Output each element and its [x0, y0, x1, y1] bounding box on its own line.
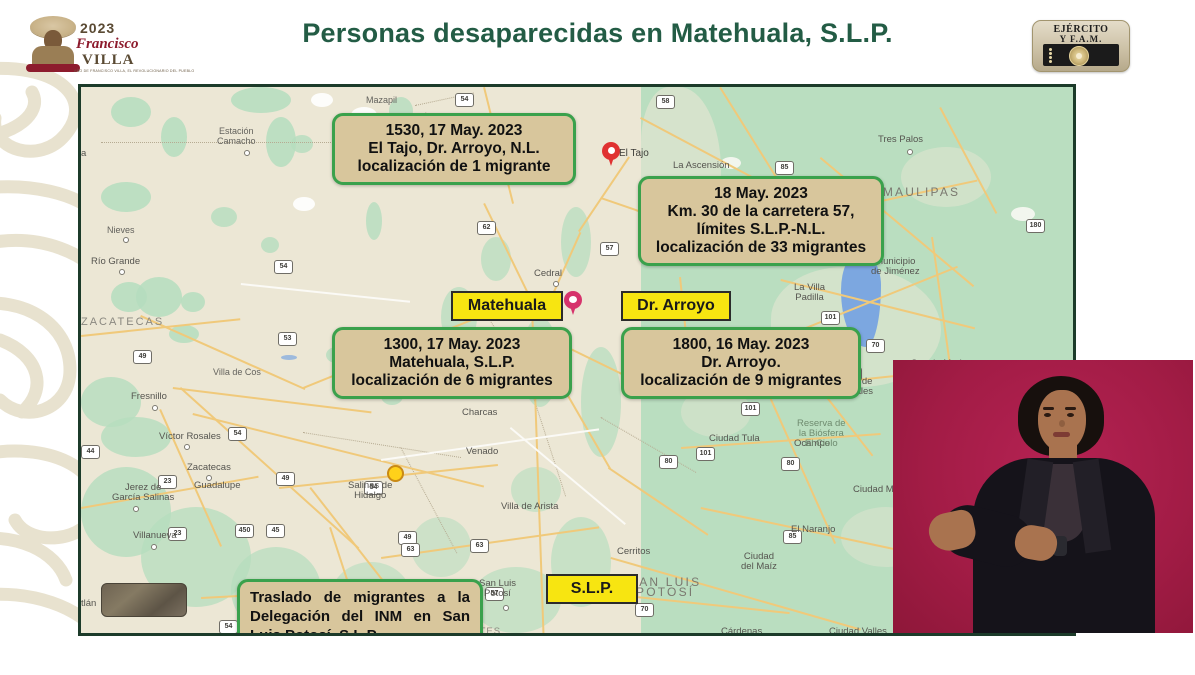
villa-torso-icon [32, 46, 74, 66]
map-label: Cárdenas [721, 627, 762, 633]
map-label: Jerez deGarcía Salinas [112, 483, 174, 503]
highway-shield: 53 [278, 332, 297, 346]
header: 2023 Francisco VILLA AÑO DE FRANCISCO VI… [0, 0, 1195, 84]
interpreter-eye [1067, 413, 1074, 417]
callout-line: 18 May. 2023 [651, 185, 871, 203]
map-city-dot [907, 149, 913, 155]
interpreter-mouth [1053, 432, 1070, 437]
interpreter-brow [1043, 407, 1054, 410]
vegetation-blob [111, 97, 151, 127]
callout-line: límites S.L.P.-N.L. [651, 221, 871, 239]
highway-shield: 63 [470, 539, 489, 553]
chip-dr-arroyo[interactable]: Dr. Arroyo [621, 291, 731, 321]
map-label: Villa de Arista [501, 502, 558, 512]
map-label: Reserva dela BiósferaEl Cielo [797, 419, 846, 449]
highway-shield: 54 [274, 260, 293, 274]
interpreter-nose [1059, 420, 1065, 427]
map-label: Ciudad Valles [829, 627, 887, 633]
vegetation-blob [161, 117, 187, 157]
highway-shield: 45 [266, 524, 285, 538]
callout-line: Km. 30 de la carretera 57, [651, 203, 871, 221]
interpreter-brow [1065, 407, 1076, 410]
vegetation-blob [291, 135, 313, 153]
map-state-label: ZACATECAS [81, 317, 164, 327]
vegetation-blob [261, 237, 279, 253]
chip-matehuala[interactable]: Matehuala [451, 291, 563, 321]
pin-tip [569, 303, 577, 315]
callout-line: Dr. Arroyo. [634, 354, 848, 372]
map-label: Villanueva [133, 531, 177, 541]
map-label: Mazapil [366, 95, 397, 105]
highway-shield: 49 [133, 350, 152, 364]
map-label: a [81, 149, 86, 159]
map-label: Zacatecas [187, 463, 231, 473]
highway-shield: 54 [455, 93, 474, 107]
callout-line: Matehuala, S.L.P. [345, 354, 559, 372]
logo-name-last: VILLA [82, 52, 135, 69]
highway-shield: 85 [775, 161, 794, 175]
map-label: tlán [81, 599, 96, 609]
vegetation-blob [481, 237, 511, 281]
map-photo-thumbnail[interactable] [101, 583, 187, 617]
chip-slp[interactable]: S.L.P. [546, 574, 638, 604]
callout-line: localización de 33 migrantes [651, 239, 871, 257]
map-city-dot [184, 444, 190, 450]
highway-shield: 80 [659, 455, 678, 469]
map-label: Cedral [534, 269, 562, 279]
highway-shield: 49 [276, 472, 295, 486]
highway-shield: 54 [228, 427, 247, 441]
callout-line: localización de 1 migrante [345, 158, 563, 176]
map-label: Fresnillo [131, 392, 167, 402]
footer-spacer [0, 636, 1195, 675]
map-city-dot [119, 269, 125, 275]
highway-shield: 63 [401, 543, 420, 557]
map-label: Venado [466, 447, 498, 457]
highway-shield: 70 [635, 603, 654, 617]
salinas-dot-marker[interactable] [387, 465, 404, 482]
emblem-line-2: Y F.A.M. [1033, 34, 1129, 44]
highway-shield: 57 [600, 242, 619, 256]
map-city-dot [503, 605, 509, 611]
map-label: EstaciónCamacho [217, 126, 256, 146]
highway-shield: 180 [1026, 219, 1045, 233]
map-label: El Naranjo [791, 525, 835, 535]
sign-language-interpreter-inset[interactable] [893, 360, 1193, 633]
callout-line: localización de 9 migrantes [634, 372, 848, 390]
map-label: Guadalupe [194, 481, 240, 491]
callout-line: El Tajo, Dr. Arroyo, N.L. [345, 140, 563, 158]
callout-line: localización de 6 migrantes [345, 372, 559, 390]
callout-traslado-inm[interactable]: Traslado de migrantes a la Delegación de… [237, 579, 483, 633]
map-label: Víctor Rosales [159, 432, 221, 442]
map-label: Cerritos [617, 547, 650, 557]
vegetation-blob [101, 182, 151, 212]
map-city-dot [244, 150, 250, 156]
map-label: Ciudaddel Maíz [741, 552, 777, 572]
pin-tip [607, 154, 615, 166]
highway-shield: 58 [656, 95, 675, 109]
map-city-dot [123, 237, 129, 243]
vegetation-blob [181, 292, 205, 312]
map-city-dot [151, 544, 157, 550]
callout-matehuala[interactable]: 1300, 17 May. 2023 Matehuala, S.L.P. loc… [332, 327, 572, 399]
logo-subtitle: AÑO DE FRANCISCO VILLA, EL REVOLUCIONARI… [74, 69, 194, 73]
callout-km30-carretera-57[interactable]: 18 May. 2023 Km. 30 de la carretera 57, … [638, 176, 884, 266]
map-label: Villa de Cos [213, 367, 261, 377]
el-tajo-marker-label: El Tajo [619, 149, 649, 159]
map-city-dot [553, 281, 559, 287]
map-label: Nieves [107, 225, 135, 235]
ejercito-fam-emblem: EJÉRCITO Y F.A.M. [1032, 20, 1130, 72]
highway-shield: 54 [219, 620, 238, 633]
highway-shield: 44 [81, 445, 100, 459]
map-label: La VillaPadilla [794, 283, 825, 303]
emblem-seal-icon [1069, 46, 1089, 66]
map-label: Río Grande [91, 257, 140, 267]
map-label: Charcas [462, 408, 497, 418]
salt-flat [293, 197, 315, 211]
vegetation-blob [136, 277, 182, 317]
callout-dr-arroyo[interactable]: 1800, 16 May. 2023 Dr. Arroyo. localizac… [621, 327, 861, 399]
map-state-label: SAN LUISPOTOSÍ [629, 577, 701, 597]
vegetation-blob [366, 202, 382, 240]
screen: 2023 Francisco VILLA AÑO DE FRANCISCO VI… [0, 0, 1195, 675]
logo-ribbon [26, 64, 80, 72]
map-label: Ciudad Tula [709, 434, 760, 444]
highway-shield: 80 [781, 457, 800, 471]
map-label: La Ascensión [673, 161, 730, 171]
matehuala-pin[interactable] [564, 291, 582, 316]
emblem-plate [1043, 44, 1119, 66]
highway-shield: 70 [866, 339, 885, 353]
callout-el-tajo[interactable]: 1530, 17 May. 2023 El Tajo, Dr. Arroyo, … [332, 113, 576, 185]
el-tajo-pin[interactable] [602, 142, 620, 167]
map-city-dot [133, 506, 139, 512]
map-city-dot [152, 405, 158, 411]
highway-shield: 450 [235, 524, 254, 538]
vegetation-blob [211, 207, 237, 227]
emblem-dots-icon [1049, 47, 1054, 64]
callout-line: 1300, 17 May. 2023 [345, 336, 559, 354]
page-title: Personas desaparecidas en Matehuala, S.L… [0, 18, 1195, 49]
callout-line: 1530, 17 May. 2023 [345, 122, 563, 140]
map-label: Tres Palos [878, 135, 923, 145]
callout-line: 1800, 16 May. 2023 [634, 336, 848, 354]
interpreter-eye [1044, 413, 1051, 417]
vegetation-blob [231, 87, 291, 113]
pin-inner-dot [608, 147, 615, 154]
lake [281, 355, 297, 360]
highway-shield: 101 [741, 402, 760, 416]
highway-shield: 101 [696, 447, 715, 461]
heart-icon [569, 296, 577, 303]
highway-shield: 101 [821, 311, 840, 325]
highway-shield: 62 [477, 221, 496, 235]
salt-flat [311, 93, 333, 107]
map-label: San LuisPotosí [479, 579, 516, 599]
map-label: Salinas deHidalgo [348, 481, 392, 501]
